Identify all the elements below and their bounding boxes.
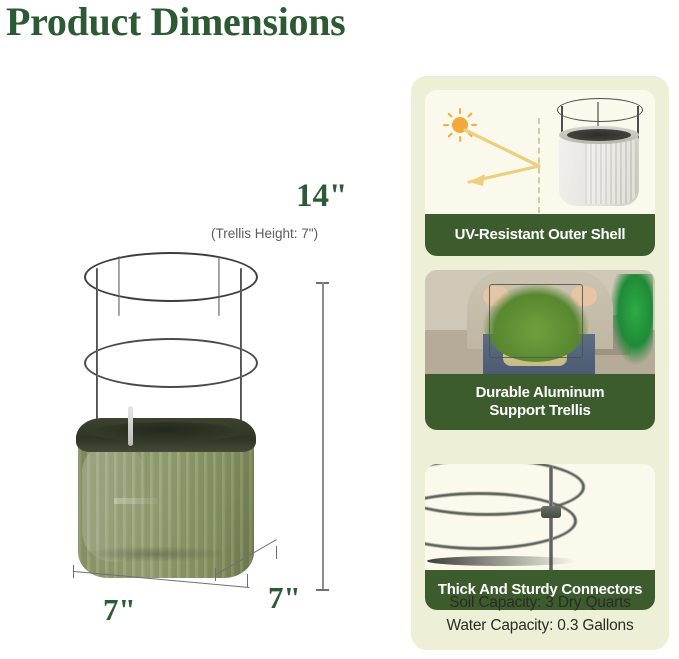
planter-icon [541,96,649,208]
sun-ray [443,124,449,126]
sun-ray [447,132,453,138]
photo-person-holding-planter [425,270,655,374]
sun-ray [467,112,473,118]
card-media-trellis-photo [425,270,655,374]
trellis-connector [541,506,561,518]
measurement-cap-bottom [316,589,329,591]
pot-drop-shadow [80,546,230,562]
trellis-ring-middle [84,338,258,388]
measurement-tick-far [276,546,277,559]
page-title: Product Dimensions [6,0,345,45]
connector-shadow [427,556,577,566]
trellis-vertical-post [549,466,553,570]
card-media-connector-closeup [425,464,655,570]
caption-line-1: UV-Resistant Outer Shell [455,226,626,244]
pot-rim [76,418,256,452]
card-media-uv-shell [425,90,655,214]
sun-ray [447,112,453,118]
capacity-info: Soil Capacity: 3 Dry Quarts Water Capaci… [411,591,669,638]
card-caption-uv-shell: UV-Resistant Outer Shell [425,214,655,256]
pot-rim-opening [92,422,240,442]
water-level-gauge [128,406,133,446]
product-dimension-diagram: 14" (Trellis Height: 7") [0,56,400,659]
depth-measurement-line [215,546,345,582]
trellis-ring-top [84,252,258,302]
sun-ray [459,108,461,114]
uv-ray-arrow-icon [461,126,551,188]
planter-opening [567,129,631,141]
caption-line-1: Durable Aluminum [476,384,605,402]
pot-logo [114,498,158,504]
planter-ribs [585,136,637,204]
feature-panel: UV-Resistant Outer Shell Durable Aluminu… [411,76,669,650]
photo-trellis-frame [489,284,583,358]
width-dimension-label: 7" [103,592,136,628]
trellis-ring-icon [557,98,643,122]
height-dimension-label: 14" [296,178,347,215]
water-capacity-text: Water Capacity: 0.3 Gallons [411,614,669,638]
depth-dimension-label: 7" [268,580,301,616]
card-caption-aluminum-trellis: Durable Aluminum Support Trellis [425,374,655,430]
photo-side-plant [609,274,653,366]
caption-line-2: Support Trellis [489,402,590,420]
feature-card-uv-shell[interactable]: UV-Resistant Outer Shell [425,90,655,256]
feature-card-aluminum-trellis[interactable]: Durable Aluminum Support Trellis [425,270,655,430]
feature-card-sturdy-connectors[interactable]: Thick And Sturdy Connectors [425,464,655,610]
trellis-height-note: (Trellis Height: 7") [211,226,318,241]
soil-capacity-text: Soil Capacity: 3 Dry Quarts [411,591,669,615]
height-measurement-line [316,282,329,591]
measurement-bar [322,282,324,591]
